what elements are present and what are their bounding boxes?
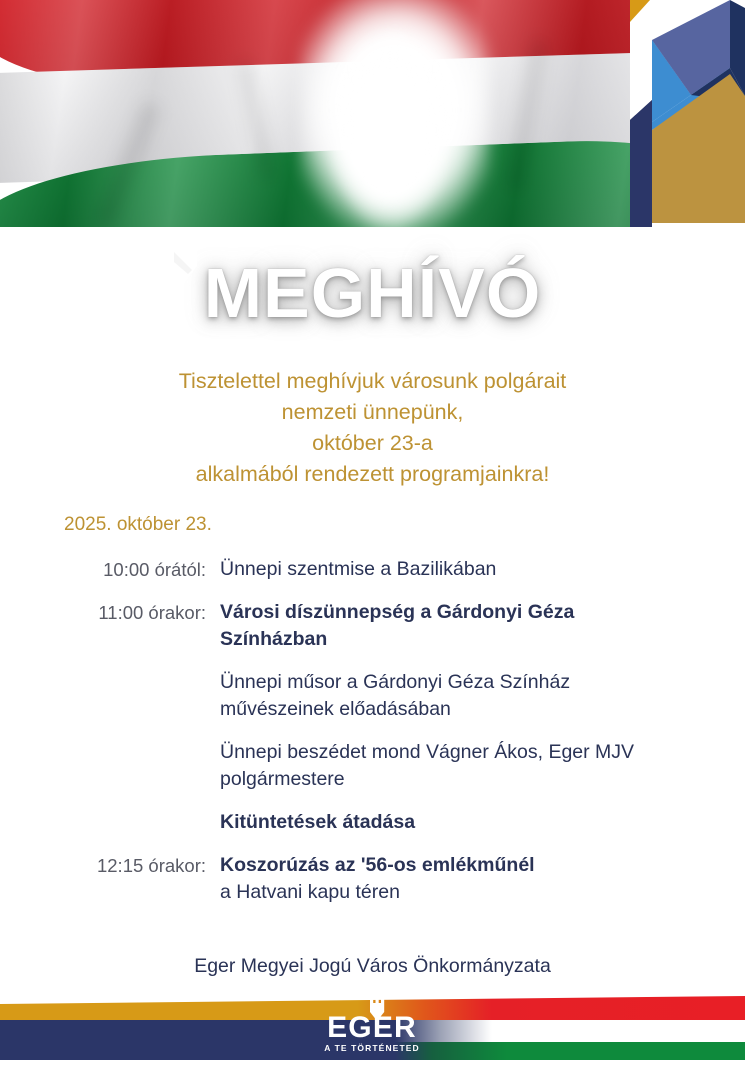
schedule-description: Ünnepi beszédet mond Vágner Ákos, Eger M… <box>220 739 664 793</box>
schedule-description: Kitüntetések átadása <box>220 809 664 836</box>
schedule-description: Koszorúzás az '56-os emlékműnél a Hatvan… <box>220 852 664 906</box>
invitation-line: Tisztelettel meghívjuk városunk polgárai… <box>0 366 745 397</box>
schedule-row: Ünnepi beszédet mond Vágner Ákos, Eger M… <box>64 739 664 793</box>
invitation-line: október 23-a <box>0 428 745 459</box>
page-title: MEGHÍVÓ <box>204 258 542 328</box>
castle-tower-icon <box>160 236 208 292</box>
schedule-description-main: Koszorúzás az '56-os emlékműnél <box>220 854 535 876</box>
schedule-row: 11:00 órakor: Városi díszünnepség a Gárd… <box>64 599 664 653</box>
hungarian-flag-image <box>0 0 690 227</box>
schedule-time: 11:00 órakor: <box>64 599 220 626</box>
schedule-description-sub: a Hatvani kapu téren <box>220 879 664 906</box>
schedule-list: 10:00 órától: Ünnepi szentmise a Bazilik… <box>64 556 664 922</box>
schedule-description: Ünnepi szentmise a Bazilikában <box>220 556 664 583</box>
footer-bar: EGER A TE TÖRTÉNETED <box>0 990 745 1068</box>
schedule-row: Kitüntetések átadása <box>64 809 664 836</box>
schedule-row: 10:00 órától: Ünnepi szentmise a Bazilik… <box>64 556 664 583</box>
invitation-poster: MEGHÍVÓ Tisztelettel meghívjuk városunk … <box>0 0 745 1068</box>
schedule-time: 10:00 órától: <box>64 556 220 583</box>
invitation-line: nemzeti ünnepünk, <box>0 397 745 428</box>
logo-tagline: A TE TÖRTÉNETED <box>324 1043 420 1053</box>
schedule-description: Városi díszünnepség a Gárdonyi Géza Szín… <box>220 599 664 653</box>
logo-wordmark: EGER <box>327 1011 417 1044</box>
signature-line: Eger Megyei Jogú Város Önkormányzata <box>0 955 745 978</box>
schedule-row: 12:15 órakor: Koszorúzás az '56-os emlék… <box>64 852 664 906</box>
header-flag-banner <box>0 0 745 227</box>
title-block: MEGHÍVÓ <box>0 258 745 328</box>
flag-highlight-core <box>330 30 450 227</box>
schedule-row: Ünnepi műsor a Gárdonyi Géza Színház műv… <box>64 669 664 723</box>
event-date: 2025. október 23. <box>64 514 212 536</box>
schedule-description: Ünnepi műsor a Gárdonyi Géza Színház műv… <box>220 669 664 723</box>
invitation-paragraph: Tisztelettel meghívjuk városunk polgárai… <box>0 366 745 490</box>
geometric-corner-pattern <box>630 0 745 227</box>
schedule-time: 12:15 órakor: <box>64 852 220 879</box>
invitation-line: alkalmából rendezett programjainkra! <box>0 459 745 490</box>
